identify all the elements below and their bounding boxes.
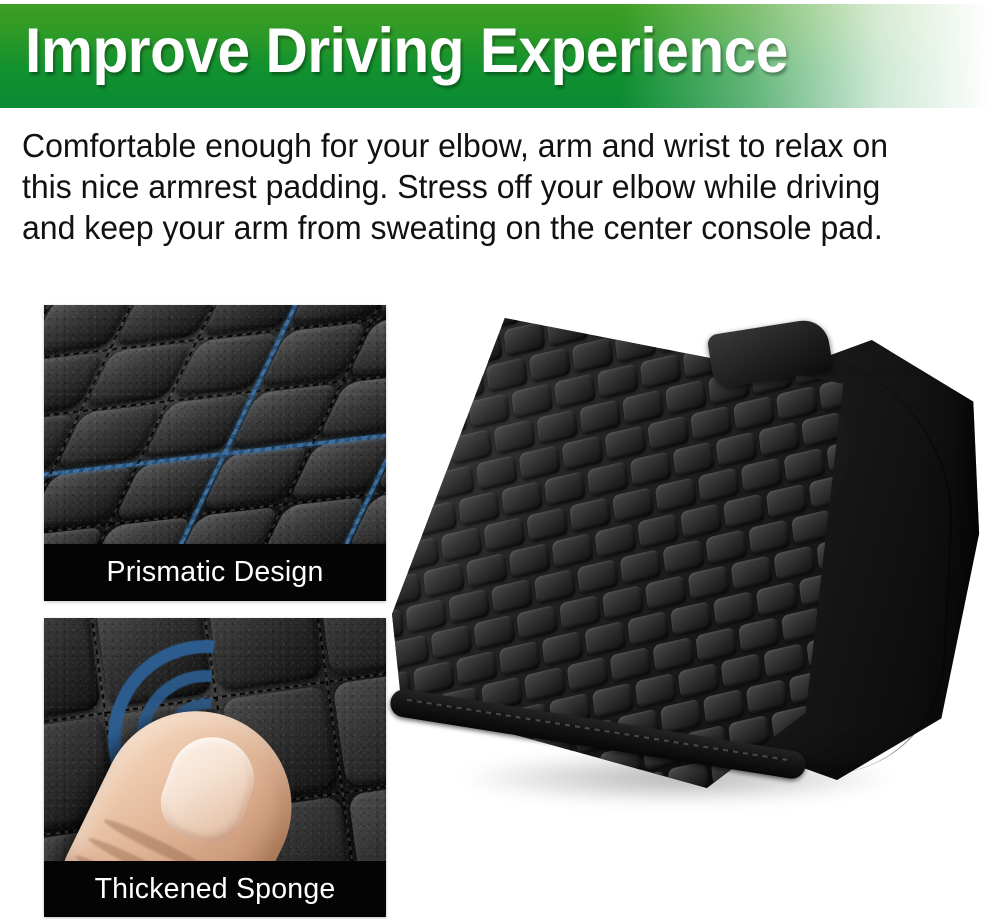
feature-card-prismatic: Prismatic Design	[44, 305, 386, 601]
leather-grain-texture	[44, 305, 386, 544]
sponge-press-photo	[44, 618, 386, 861]
top-face-highlight	[398, 378, 638, 678]
description-line-1: Comfortable enough for your elbow, arm a…	[22, 126, 939, 167]
prismatic-leather-photo	[44, 305, 386, 544]
hero-product-image	[392, 282, 1000, 842]
feature-card-sponge: Thickened Sponge	[44, 618, 386, 917]
description-paragraph: Comfortable enough for your elbow, arm a…	[22, 126, 939, 249]
description-line-2: this nice armrest padding. Stress off yo…	[22, 167, 939, 208]
sponge-caption-bar: Thickened Sponge	[44, 861, 386, 917]
description-line-3: and keep your arm from sweating on the c…	[22, 208, 939, 249]
header-banner: Improve Driving Experience	[0, 4, 1000, 108]
prismatic-caption-bar: Prismatic Design	[44, 544, 386, 601]
fingernail	[151, 725, 266, 851]
page-title: Improve Driving Experience	[25, 20, 788, 83]
sponge-caption-text: Thickened Sponge	[95, 873, 336, 906]
prismatic-caption-text: Prismatic Design	[106, 556, 323, 589]
product-feature-page: Improve Driving Experience Comfortable e…	[0, 0, 1000, 919]
